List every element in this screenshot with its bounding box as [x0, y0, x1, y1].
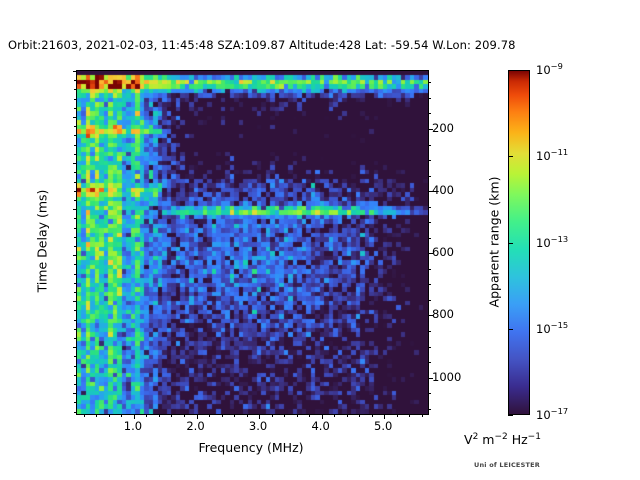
y-tick-right: [428, 207, 431, 208]
y-axis-right-title: Apparent range (km): [487, 176, 502, 307]
x-tick: [422, 414, 423, 417]
x-tick: [372, 414, 373, 417]
y-ticklabel-right: 800: [432, 307, 454, 321]
colorbar-tick: [508, 156, 513, 157]
x-tick: [171, 414, 172, 417]
x-tick: [322, 414, 323, 419]
colorbar-tick: [508, 415, 513, 416]
x-tick: [197, 414, 198, 419]
x-axis-title: Frequency (MHz): [198, 440, 303, 455]
x-tick: [259, 414, 260, 419]
institution-watermark: Uni of LEICESTER: [474, 461, 540, 469]
colorbar-ticklabel: 10−13: [536, 236, 568, 250]
figure-title: Orbit:21603, 2021-02-03, 11:45:48 SZA:10…: [8, 38, 516, 52]
x-ticklabel: 1.0: [124, 419, 142, 433]
y-tick-right: [428, 300, 431, 301]
x-ticklabel: 3.0: [249, 419, 267, 433]
x-tick: [334, 414, 335, 417]
y-tick-right: [428, 145, 431, 146]
x-tick: [284, 414, 285, 417]
y-tick-right: [428, 409, 431, 410]
x-tick: [134, 414, 135, 419]
x-tick: [359, 414, 360, 417]
colorbar-ticklabels: 10−910−1110−1310−1510−17: [508, 70, 628, 415]
y-tick-right: [428, 82, 431, 83]
colorbar-ticklabel: 10−17: [536, 408, 568, 422]
x-tick: [409, 414, 410, 417]
y-tick-right: [428, 160, 431, 161]
x-tick: [146, 414, 147, 417]
x-tick: [397, 414, 398, 417]
y-tick-right: [428, 393, 431, 394]
colorbar-tick: [508, 243, 513, 244]
y-tick-right: [428, 269, 431, 270]
x-tick: [272, 414, 273, 417]
y-tick-right: [428, 362, 431, 363]
figure-root: Orbit:21603, 2021-02-03, 11:45:48 SZA:10…: [0, 0, 640, 480]
y-tick-right: [428, 347, 431, 348]
x-tick: [222, 414, 223, 417]
x-tick: [84, 414, 85, 417]
y-tick-right: [428, 284, 431, 285]
x-tick: [297, 414, 298, 417]
x-tick: [109, 414, 110, 417]
x-tick: [121, 414, 122, 417]
y-ticklabel-right: 400: [432, 183, 454, 197]
x-ticklabel: 4.0: [311, 419, 329, 433]
y-ticklabel-right: 200: [432, 121, 454, 135]
colorbar-ticklabel: 10−11: [536, 149, 568, 163]
y-tick-right: [428, 98, 431, 99]
y-tick-right: [428, 222, 431, 223]
x-ticklabel: 5.0: [374, 419, 392, 433]
y-axis-right-ticklabels: 2004006008001000: [432, 70, 492, 413]
colorbar-ticklabel: 10−9: [536, 63, 563, 77]
x-tick: [209, 414, 210, 417]
x-tick: [247, 414, 248, 417]
colorbar-tick: [508, 70, 513, 71]
y-tick-right: [428, 113, 431, 114]
y-axis-left-title: Time Delay (ms): [35, 190, 50, 293]
colorbar-ticklabel: 10−15: [536, 322, 568, 336]
x-tick: [309, 414, 310, 417]
x-tick: [184, 414, 185, 417]
x-tick: [384, 414, 385, 419]
y-tick-right: [428, 331, 431, 332]
x-tick: [347, 414, 348, 417]
x-tick: [159, 414, 160, 417]
x-ticklabel: 2.0: [186, 419, 204, 433]
colorbar-tick: [508, 329, 513, 330]
x-tick: [234, 414, 235, 417]
y-tick-right: [428, 238, 431, 239]
y-ticklabel-right: 1000: [432, 370, 461, 384]
x-axis-ticklabels: 1.02.03.04.05.0: [76, 70, 427, 413]
x-tick: [96, 414, 97, 417]
y-ticklabel-right: 600: [432, 245, 454, 259]
colorbar-units-label: V2 m−2 Hz−1: [464, 432, 541, 447]
y-tick-right: [428, 176, 431, 177]
